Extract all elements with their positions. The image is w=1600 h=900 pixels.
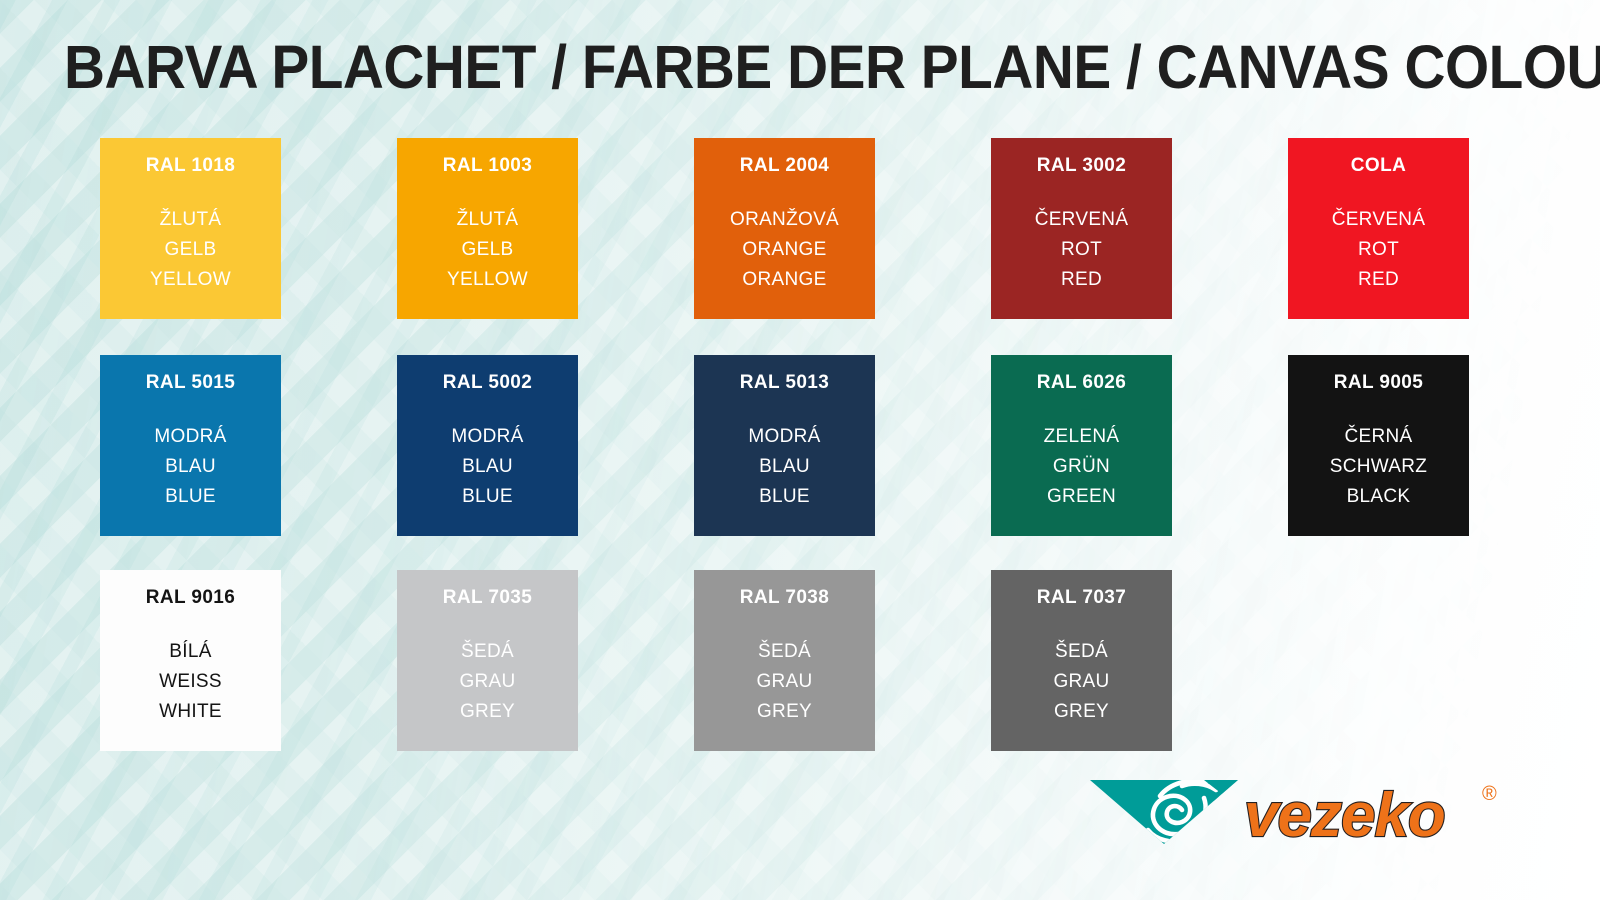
swatch-grid: RAL 1018 ŽLUTÁ GELB YELLOW RAL 1003 ŽLUT…	[100, 138, 1470, 751]
swatch-name-cs: ŽLUTÁ	[447, 205, 528, 235]
colour-swatch-ral-5015[interactable]: RAL 5015 MODRÁ BLAU BLUE	[100, 355, 281, 536]
swatch-code: RAL 5015	[146, 372, 235, 394]
colour-swatch-ral-5002[interactable]: RAL 5002 MODRÁ BLAU BLUE	[397, 355, 578, 536]
swatch-cell[interactable]: RAL 6026 ZELENÁ GRÜN GREEN	[991, 355, 1172, 536]
swatch-cell[interactable]: RAL 2004 ORANŽOVÁ ORANGE ORANGE	[694, 138, 875, 319]
swatch-names: ŽLUTÁ GELB YELLOW	[150, 205, 231, 295]
swatch-cell[interactable]: RAL 5013 MODRÁ BLAU BLUE	[694, 355, 875, 536]
swatch-code: RAL 2004	[740, 155, 829, 177]
swatch-cell[interactable]: COLA ČERVENÁ ROT RED	[1288, 138, 1469, 319]
swatch-names: ČERVENÁ ROT RED	[1332, 205, 1426, 295]
swatch-cell[interactable]: RAL 5002 MODRÁ BLAU BLUE	[397, 355, 578, 536]
swatch-cell[interactable]: RAL 7035 ŠEDÁ GRAU GREY	[397, 570, 578, 751]
swatch-name-en: ORANGE	[730, 265, 839, 295]
swatch-name-en: GREY	[756, 697, 812, 727]
swatch-name-en: GREEN	[1044, 482, 1120, 512]
swatch-code: RAL 1003	[443, 155, 532, 177]
swatch-names: ORANŽOVÁ ORANGE ORANGE	[730, 205, 839, 295]
colour-swatch-ral-7037[interactable]: RAL 7037 ŠEDÁ GRAU GREY	[991, 570, 1172, 751]
swatch-names: ŠEDÁ GRAU GREY	[459, 637, 515, 727]
colour-chart-page: BARVA PLACHET / FARBE DER PLANE / CANVAS…	[0, 0, 1600, 900]
swatch-name-de: GELB	[447, 235, 528, 265]
swatch-names: ŽLUTÁ GELB YELLOW	[447, 205, 528, 295]
page-title: BARVA PLACHET / FARBE DER PLANE / CANVAS…	[64, 36, 1600, 98]
swatch-code: RAL 7038	[740, 587, 829, 609]
swatch-names: MODRÁ BLAU BLUE	[451, 422, 523, 512]
swatch-name-de: BLAU	[451, 452, 523, 482]
swatch-code: RAL 9016	[146, 587, 235, 609]
colour-swatch-ral-3002[interactable]: RAL 3002 ČERVENÁ ROT RED	[991, 138, 1172, 319]
swatch-name-cs: ČERVENÁ	[1035, 205, 1129, 235]
swatch-code: RAL 1018	[146, 155, 235, 177]
swatch-name-de: ROT	[1332, 235, 1426, 265]
swatch-names: BÍLÁ WEISS WHITE	[159, 637, 222, 727]
swatch-name-cs: ČERNÁ	[1330, 422, 1427, 452]
swatch-name-cs: ČERVENÁ	[1332, 205, 1426, 235]
swatch-name-en: WHITE	[159, 697, 222, 727]
swatch-names: ČERNÁ SCHWARZ BLACK	[1330, 422, 1427, 512]
colour-swatch-ral-5013[interactable]: RAL 5013 MODRÁ BLAU BLUE	[694, 355, 875, 536]
swatch-name-en: GREY	[459, 697, 515, 727]
swatch-name-cs: MODRÁ	[154, 422, 226, 452]
swatch-name-cs: ŠEDÁ	[756, 637, 812, 667]
swatch-code: RAL 7037	[1037, 587, 1126, 609]
swatch-code: RAL 9005	[1334, 372, 1423, 394]
swatch-name-en: GREY	[1053, 697, 1109, 727]
swatch-name-de: ROT	[1035, 235, 1129, 265]
swatch-name-en: BLUE	[451, 482, 523, 512]
swatch-name-cs: MODRÁ	[748, 422, 820, 452]
swatch-cell[interactable]: RAL 7038 ŠEDÁ GRAU GREY	[694, 570, 875, 751]
swatch-names: ČERVENÁ ROT RED	[1035, 205, 1129, 295]
swatch-name-en: YELLOW	[150, 265, 231, 295]
swatch-cell[interactable]: RAL 9005 ČERNÁ SCHWARZ BLACK	[1288, 355, 1469, 536]
vezeko-logo[interactable]: vezeko ®	[1086, 774, 1506, 850]
swatch-name-en: BLACK	[1330, 482, 1427, 512]
swatch-name-de: BLAU	[748, 452, 820, 482]
swatch-name-de: GRAU	[459, 667, 515, 697]
swatch-code: RAL 5002	[443, 372, 532, 394]
swatch-cell[interactable]: RAL 5015 MODRÁ BLAU BLUE	[100, 355, 281, 536]
swatch-name-en: BLUE	[154, 482, 226, 512]
swatch-row-1: RAL 1018 ŽLUTÁ GELB YELLOW RAL 1003 ŽLUT…	[100, 138, 1470, 319]
swatch-cell[interactable]: RAL 1003 ŽLUTÁ GELB YELLOW	[397, 138, 578, 319]
swatch-name-en: RED	[1035, 265, 1129, 295]
swatch-names: MODRÁ BLAU BLUE	[748, 422, 820, 512]
swatch-row-3: RAL 9016 BÍLÁ WEISS WHITE RAL 7035 ŠEDÁ …	[100, 570, 1470, 751]
swatch-name-en: BLUE	[748, 482, 820, 512]
swatch-name-en: YELLOW	[447, 265, 528, 295]
logo-triangle-spiral-icon	[1090, 780, 1238, 844]
swatch-names: ZELENÁ GRÜN GREEN	[1044, 422, 1120, 512]
swatch-code: RAL 5013	[740, 372, 829, 394]
colour-swatch-ral-6026[interactable]: RAL 6026 ZELENÁ GRÜN GREEN	[991, 355, 1172, 536]
swatch-name-cs: MODRÁ	[451, 422, 523, 452]
swatch-name-de: BLAU	[154, 452, 226, 482]
swatch-names: MODRÁ BLAU BLUE	[154, 422, 226, 512]
swatch-cell[interactable]: RAL 7037 ŠEDÁ GRAU GREY	[991, 570, 1172, 751]
swatch-row-2: RAL 5015 MODRÁ BLAU BLUE RAL 5002 MODRÁ …	[100, 355, 1470, 536]
swatch-code: COLA	[1351, 155, 1406, 177]
colour-swatch-ral-9016[interactable]: RAL 9016 BÍLÁ WEISS WHITE	[100, 570, 281, 751]
swatch-names: ŠEDÁ GRAU GREY	[756, 637, 812, 727]
colour-swatch-ral-7035[interactable]: RAL 7035 ŠEDÁ GRAU GREY	[397, 570, 578, 751]
colour-swatch-ral-9005[interactable]: RAL 9005 ČERNÁ SCHWARZ BLACK	[1288, 355, 1469, 536]
swatch-name-cs: ŽLUTÁ	[150, 205, 231, 235]
swatch-names: ŠEDÁ GRAU GREY	[1053, 637, 1109, 727]
colour-swatch-ral-2004[interactable]: RAL 2004 ORANŽOVÁ ORANGE ORANGE	[694, 138, 875, 319]
colour-swatch-cola[interactable]: COLA ČERVENÁ ROT RED	[1288, 138, 1469, 319]
swatch-name-de: GRAU	[756, 667, 812, 697]
colour-swatch-ral-7038[interactable]: RAL 7038 ŠEDÁ GRAU GREY	[694, 570, 875, 751]
swatch-name-cs: BÍLÁ	[159, 637, 222, 667]
colour-swatch-ral-1003[interactable]: RAL 1003 ŽLUTÁ GELB YELLOW	[397, 138, 578, 319]
swatch-name-en: RED	[1332, 265, 1426, 295]
swatch-name-de: GELB	[150, 235, 231, 265]
swatch-name-de: ORANGE	[730, 235, 839, 265]
swatch-name-de: SCHWARZ	[1330, 452, 1427, 482]
logo-wordmark: vezeko	[1244, 781, 1445, 850]
swatch-code: RAL 6026	[1037, 372, 1126, 394]
logo-trademark-symbol: ®	[1482, 783, 1497, 805]
swatch-code: RAL 7035	[443, 587, 532, 609]
swatch-name-cs: ZELENÁ	[1044, 422, 1120, 452]
colour-swatch-ral-1018[interactable]: RAL 1018 ŽLUTÁ GELB YELLOW	[100, 138, 281, 319]
swatch-name-de: GRÜN	[1044, 452, 1120, 482]
swatch-name-cs: ŠEDÁ	[459, 637, 515, 667]
swatch-name-de: GRAU	[1053, 667, 1109, 697]
swatch-cell[interactable]: RAL 3002 ČERVENÁ ROT RED	[991, 138, 1172, 319]
swatch-name-de: WEISS	[159, 667, 222, 697]
swatch-name-cs: ORANŽOVÁ	[730, 205, 839, 235]
swatch-name-cs: ŠEDÁ	[1053, 637, 1109, 667]
swatch-cell[interactable]: RAL 9016 BÍLÁ WEISS WHITE	[100, 570, 281, 751]
swatch-cell[interactable]: RAL 1018 ŽLUTÁ GELB YELLOW	[100, 138, 281, 319]
swatch-code: RAL 3002	[1037, 155, 1126, 177]
